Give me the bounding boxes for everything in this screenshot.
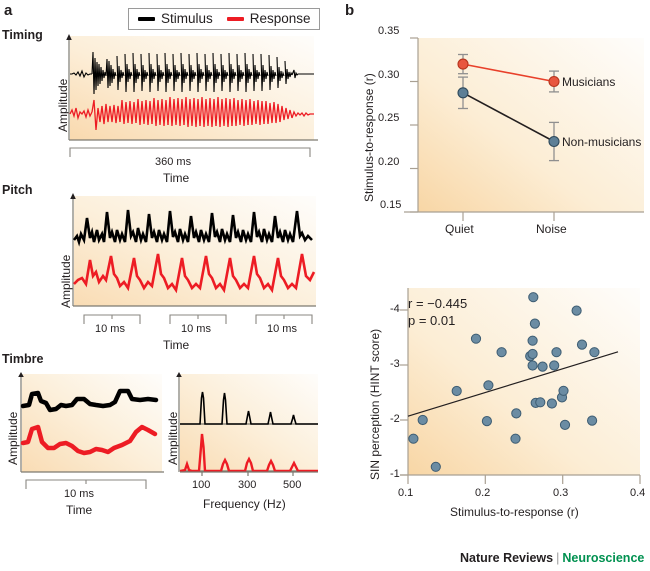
ytick-scatter-1: -1 [390, 468, 400, 480]
chart-timbre-time [14, 372, 164, 476]
ytick-line-015: 0.15 [380, 199, 401, 211]
axis-label-timing-x: Time [163, 171, 189, 185]
scale-label-pitch-2: 10 ms [181, 323, 211, 335]
axis-label-pitch-x: Time [163, 338, 189, 352]
ytick-line-035: 0.35 [378, 25, 399, 37]
row-title-pitch: Pitch [2, 183, 33, 197]
scale-label-timing: 360 ms [155, 156, 191, 168]
series-label-musicians: Musicians [562, 75, 615, 89]
xtick-scatter-01: 0.1 [398, 487, 413, 499]
credit-separator: | [553, 551, 562, 565]
legend-item-response: Response [227, 11, 311, 26]
axis-label-scatter-x: Stimulus-to-response (r) [450, 505, 579, 519]
axis-label-timbre-time-x: Time [66, 503, 92, 517]
legend: Stimulus Response [128, 8, 320, 30]
line-swatch-icon-stimulus [138, 17, 155, 21]
journal-credit: Nature Reviews|Neuroscience [460, 551, 644, 565]
panel-label-b: b [345, 2, 354, 19]
chart-timing-waveform [62, 34, 320, 144]
xtick-timbre-freq-100: 100 [192, 479, 210, 491]
scale-label-timbre: 10 ms [64, 488, 94, 500]
ytick-line-020: 0.20 [378, 156, 399, 168]
ytick-line-025: 0.25 [378, 112, 399, 124]
credit-section: Neuroscience [562, 551, 644, 565]
ytick-scatter-2: -2 [390, 413, 400, 425]
scale-label-pitch-3: 10 ms [267, 323, 297, 335]
annotation-p-value: p = 0.01 [408, 313, 455, 328]
scale-label-pitch-1: 10 ms [95, 323, 125, 335]
credit-journal: Nature Reviews [460, 551, 553, 565]
ytick-scatter-4: -4 [390, 303, 400, 315]
ytick-scatter-3: -3 [390, 358, 400, 370]
chart-timbre-frequency [172, 372, 320, 476]
legend-label-stimulus: Stimulus [161, 11, 213, 26]
ytick-line-030: 0.30 [378, 69, 399, 81]
xtick-line-quiet: Quiet [445, 222, 474, 236]
xtick-timbre-freq-500: 500 [283, 479, 301, 491]
series-label-non-musicians: Non-musicians [562, 135, 641, 149]
xtick-line-noise: Noise [536, 222, 567, 236]
chart-pitch-waveform [66, 192, 316, 310]
xtick-timbre-freq-300: 300 [238, 479, 256, 491]
xtick-scatter-02: 0.2 [475, 487, 490, 499]
row-title-timing: Timing [2, 28, 43, 42]
xtick-scatter-04: 0.4 [630, 487, 645, 499]
line-swatch-icon-response [227, 17, 244, 21]
legend-item-stimulus: Stimulus [138, 11, 213, 26]
legend-label-response: Response [250, 11, 311, 26]
panel-label-a: a [4, 2, 12, 19]
annotation-r-value: r = −0.445 [408, 296, 467, 311]
xtick-scatter-03: 0.3 [553, 487, 568, 499]
axis-label-timbre-freq-x: Frequency (Hz) [203, 497, 286, 511]
row-title-timbre: Timbre [2, 352, 43, 366]
chart-line-condition [374, 26, 644, 241]
